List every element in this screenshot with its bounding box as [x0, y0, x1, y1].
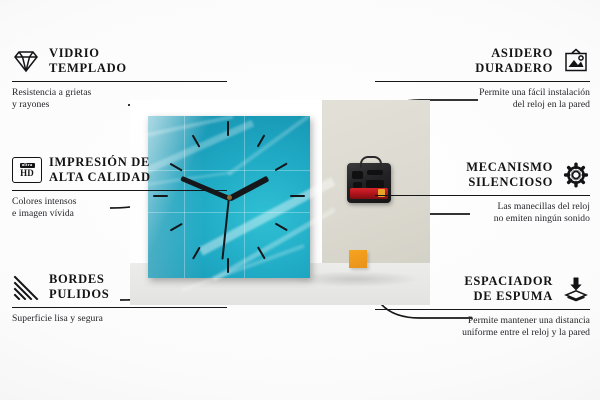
- feature-title-line1: IMPRESIÓN DE: [49, 155, 151, 170]
- feature-desc-line2: del reloj en la pared: [375, 99, 590, 111]
- feature-desc-line1: Permite mantener una distancia: [375, 315, 590, 327]
- feature-title-line2: DURADERO: [475, 61, 553, 76]
- feature-desc-line2: y rayones: [12, 99, 227, 111]
- feature-title-line2: TEMPLADO: [49, 61, 127, 76]
- feature-title-line2: PULIDOS: [49, 287, 109, 302]
- infographic-canvas: VIDRIO TEMPLADO Resistencia a grietas y …: [0, 0, 600, 400]
- divider: [12, 307, 227, 308]
- feature-title-line1: VIDRIO: [49, 46, 127, 61]
- divider: [12, 81, 227, 82]
- feature-desc-line2: uniforme entre el reloj y la pared: [375, 327, 590, 339]
- feature-desc-line1: Superficie lisa y segura: [12, 313, 227, 325]
- divider: [375, 81, 590, 82]
- feature-desc-line1: Permite una fácil instalación: [375, 87, 590, 99]
- feature-title-line2: DE ESPUMA: [464, 289, 553, 304]
- feature-desc-line1: Las manecillas del reloj: [375, 201, 590, 213]
- feature-title-line2: ALTA CALIDAD: [49, 170, 151, 185]
- picture-hanger-icon: [562, 48, 590, 74]
- center-cap: [227, 195, 232, 200]
- feature-bordes-pulidos: BORDES PULIDOS Superficie lisa y segura: [12, 272, 227, 325]
- feature-espaciador-de-espuma: ESPACIADOR DE ESPUMA Permite mantener un…: [375, 274, 590, 340]
- feature-title-line1: MECANISMO: [466, 160, 553, 175]
- feature-title-line1: ESPACIADOR: [464, 274, 553, 289]
- feature-desc-line1: Resistencia a grietas: [12, 87, 227, 99]
- diamond-icon: [12, 48, 40, 74]
- feature-desc-line2: e imagen vívida: [12, 208, 227, 220]
- divider: [12, 190, 227, 191]
- feature-vidrio-templado: VIDRIO TEMPLADO Resistencia a grietas y …: [12, 46, 227, 112]
- feature-title-line2: SILENCIOSO: [466, 175, 553, 190]
- feature-title-line1: ASIDERO: [475, 46, 553, 61]
- polished-edges-icon: [12, 274, 40, 300]
- feature-asidero-duradero: ASIDERO DURADERO Permite una fácil insta…: [375, 46, 590, 112]
- gear-icon: [562, 162, 590, 188]
- feature-impresion-alta-calidad: ultra HD IMPRESIÓN DE ALTA CALIDAD Color…: [12, 155, 227, 221]
- divider: [375, 309, 590, 310]
- feature-desc-line2: no emiten ningún sonido: [375, 213, 590, 225]
- foam-spacer: [349, 250, 367, 268]
- feature-title-line1: BORDES: [49, 272, 109, 287]
- ultra-hd-icon: ultra HD: [12, 157, 40, 183]
- divider: [375, 195, 590, 196]
- feature-desc-line1: Colores intensos: [12, 196, 227, 208]
- ultra-hd-badge-large: HD: [20, 169, 34, 178]
- foam-spacer-icon: [562, 276, 590, 302]
- hour-hand: [228, 176, 269, 202]
- feature-mecanismo-silencioso: MECANISMO SILENCIOSO Las manecillas del …: [375, 160, 590, 226]
